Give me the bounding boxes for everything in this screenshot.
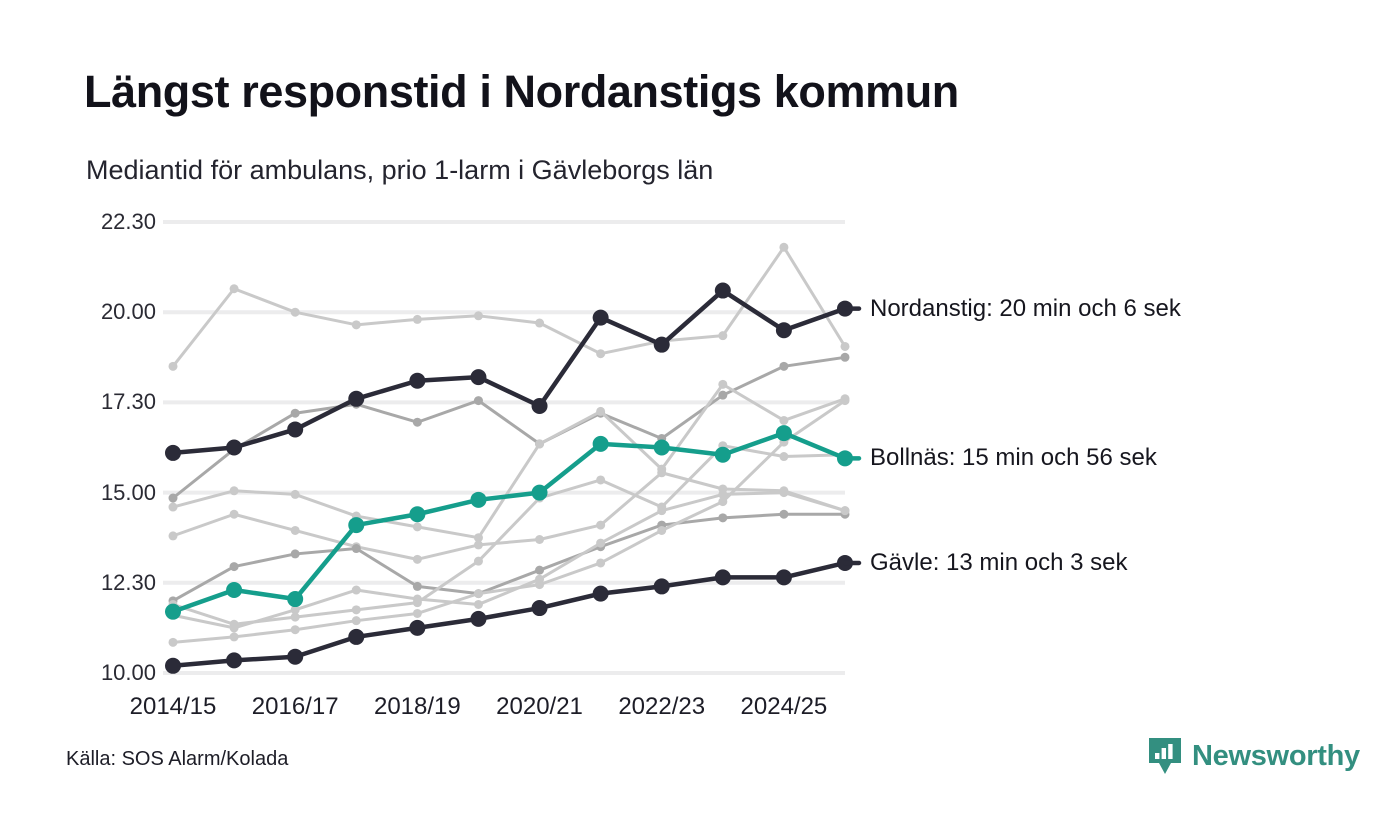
- data-point-marker: [165, 658, 181, 674]
- data-point-marker: [841, 396, 850, 405]
- data-point-marker: [718, 331, 727, 340]
- data-point-marker: [169, 638, 178, 647]
- data-point-marker: [593, 586, 609, 602]
- data-point-marker: [654, 440, 670, 456]
- data-point-marker: [348, 629, 364, 645]
- data-point-marker: [779, 416, 788, 425]
- x-axis-tick-label: 2018/19: [374, 693, 461, 721]
- data-point-marker: [657, 503, 666, 512]
- data-point-marker: [474, 589, 483, 598]
- data-point-marker: [287, 649, 303, 665]
- series-line: [173, 433, 845, 612]
- data-point-marker: [165, 604, 181, 620]
- data-point-marker: [291, 490, 300, 499]
- data-point-marker: [596, 407, 605, 416]
- data-point-marker: [413, 418, 422, 427]
- data-point-marker: [413, 522, 422, 531]
- y-axis-tick-label: 10.00: [101, 660, 156, 686]
- data-point-marker: [532, 398, 548, 414]
- x-axis-tick-label: 2016/17: [252, 693, 339, 721]
- data-point-marker: [413, 315, 422, 324]
- data-point-marker: [715, 447, 731, 463]
- x-axis-tick-label: 2022/23: [618, 693, 705, 721]
- x-axis-tick-label: 2024/25: [741, 693, 828, 721]
- data-point-marker: [532, 600, 548, 616]
- data-point-marker: [169, 531, 178, 540]
- data-point-marker: [413, 582, 422, 591]
- data-point-marker: [535, 439, 544, 448]
- data-point-marker: [657, 526, 666, 535]
- data-point-marker: [596, 521, 605, 530]
- x-axis-tick-label: 2020/21: [496, 693, 583, 721]
- data-point-marker: [226, 582, 242, 598]
- data-point-marker: [291, 409, 300, 418]
- data-point-marker: [226, 652, 242, 668]
- newsworthy-wordmark: Newsworthy: [1192, 742, 1360, 771]
- x-axis-tick-label: 2014/15: [130, 693, 217, 721]
- data-point-marker: [593, 310, 609, 326]
- data-point-marker: [596, 349, 605, 358]
- data-point-marker: [352, 616, 361, 625]
- data-point-marker: [474, 540, 483, 549]
- data-point-marker: [169, 503, 178, 512]
- data-point-marker: [413, 555, 422, 564]
- data-point-marker: [413, 598, 422, 607]
- series-line: [173, 357, 845, 498]
- data-point-marker: [718, 513, 727, 522]
- y-axis-tick-label: 20.00: [101, 299, 156, 325]
- data-point-marker: [596, 475, 605, 484]
- data-point-marker: [230, 632, 239, 641]
- series-label-nordanstig: Nordanstig: 20 min och 6 sek: [870, 295, 1181, 323]
- y-axis-tick-label: 12.30: [101, 570, 156, 596]
- series-label-bollnäs: Bollnäs: 15 min och 56 sek: [870, 444, 1157, 472]
- data-point-marker: [352, 605, 361, 614]
- data-point-marker: [169, 362, 178, 371]
- newsworthy-logo: Newsworthy: [1148, 737, 1360, 775]
- data-point-marker: [535, 535, 544, 544]
- data-point-marker: [470, 611, 486, 627]
- data-point-marker: [409, 373, 425, 389]
- data-point-marker: [535, 319, 544, 328]
- data-point-marker: [348, 517, 364, 533]
- data-point-marker: [841, 353, 850, 362]
- data-point-marker: [470, 369, 486, 385]
- chart-container: Längst responstid i Nordanstigs kommun M…: [0, 0, 1400, 840]
- series-line: [173, 384, 845, 537]
- data-point-marker: [657, 468, 666, 477]
- data-point-marker: [535, 566, 544, 575]
- data-point-marker: [532, 485, 548, 501]
- source-note: Källa: SOS Alarm/Kolada: [66, 748, 288, 771]
- data-point-marker: [715, 283, 731, 299]
- y-axis-tick-label: 22.30: [101, 209, 156, 235]
- data-point-marker: [654, 337, 670, 353]
- data-point-marker: [165, 445, 181, 461]
- data-point-marker: [470, 492, 486, 508]
- data-point-marker: [779, 510, 788, 519]
- data-point-marker: [776, 425, 792, 441]
- data-point-marker: [230, 510, 239, 519]
- data-point-marker: [779, 362, 788, 371]
- newsworthy-bars-bubble-icon: [1148, 737, 1182, 775]
- series-line: [173, 291, 845, 453]
- data-point-marker: [291, 613, 300, 622]
- data-point-marker: [409, 620, 425, 636]
- data-point-marker: [593, 436, 609, 452]
- data-point-marker: [596, 539, 605, 548]
- data-point-marker: [779, 452, 788, 461]
- series-label-gävle: Gävle: 13 min och 3 sek: [870, 549, 1127, 577]
- data-point-marker: [474, 600, 483, 609]
- data-point-marker: [291, 549, 300, 558]
- data-point-marker: [409, 506, 425, 522]
- data-point-marker: [841, 506, 850, 515]
- data-point-marker: [287, 421, 303, 437]
- data-point-marker: [291, 308, 300, 317]
- data-point-marker: [535, 580, 544, 589]
- data-point-marker: [352, 544, 361, 553]
- data-point-marker: [230, 562, 239, 571]
- data-point-marker: [718, 497, 727, 506]
- data-point-marker: [413, 609, 422, 618]
- data-point-marker: [474, 396, 483, 405]
- data-point-marker: [841, 342, 850, 351]
- data-point-marker: [474, 557, 483, 566]
- data-point-marker: [352, 320, 361, 329]
- data-point-marker: [226, 440, 242, 456]
- data-point-marker: [596, 558, 605, 567]
- y-axis-tick-label: 17.30: [101, 389, 156, 415]
- data-point-marker: [291, 526, 300, 535]
- data-point-marker: [776, 569, 792, 585]
- data-point-marker: [352, 586, 361, 595]
- data-point-marker: [474, 311, 483, 320]
- series-line: [173, 563, 845, 666]
- data-point-marker: [654, 578, 670, 594]
- data-point-marker: [287, 591, 303, 607]
- data-point-marker: [718, 380, 727, 389]
- data-point-marker: [230, 620, 239, 629]
- series-line: [173, 493, 845, 628]
- data-point-marker: [230, 284, 239, 293]
- data-point-marker: [718, 391, 727, 400]
- data-point-marker: [348, 391, 364, 407]
- data-point-marker: [230, 486, 239, 495]
- data-point-marker: [776, 322, 792, 338]
- y-axis-tick-label: 15.00: [101, 480, 156, 506]
- data-point-marker: [779, 488, 788, 497]
- data-point-marker: [291, 625, 300, 634]
- data-point-marker: [779, 243, 788, 252]
- data-point-marker: [715, 569, 731, 585]
- data-point-marker: [169, 494, 178, 503]
